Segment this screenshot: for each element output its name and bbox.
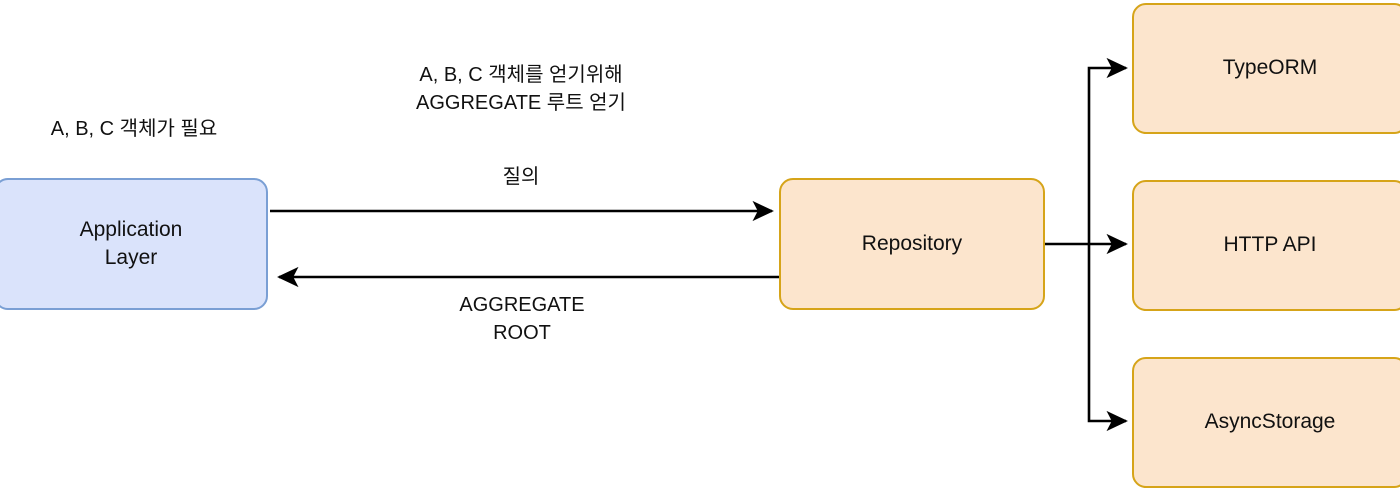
label-need-objects: A, B, C 객체가 필요 <box>51 115 217 143</box>
node-repository[interactable]: Repository <box>779 178 1045 310</box>
label-query: 질의 <box>503 163 540 191</box>
node-typeorm[interactable]: TypeORM <box>1132 3 1400 134</box>
label-get-aggregate-root: A, B, C 객체를 얻기위해 AGGREGATE 루트 얻기 <box>416 61 626 118</box>
node-async-storage-label: AsyncStorage <box>1205 408 1336 436</box>
label-aggregate-root-return: AGGREGATE ROOT <box>459 291 584 348</box>
edge-repository-to-async-storage <box>1089 244 1126 421</box>
node-repository-label: Repository <box>862 230 962 258</box>
node-typeorm-label: TypeORM <box>1223 54 1318 82</box>
node-async-storage[interactable]: AsyncStorage <box>1132 357 1400 488</box>
edge-repository-to-typeorm <box>1089 68 1126 244</box>
node-application-layer-label: Application Layer <box>80 216 183 273</box>
node-http-api[interactable]: HTTP API <box>1132 180 1400 311</box>
node-http-api-label: HTTP API <box>1224 231 1317 259</box>
diagram-canvas: Application Layer Repository TypeORM HTT… <box>0 0 1400 490</box>
node-application-layer[interactable]: Application Layer <box>0 178 268 310</box>
